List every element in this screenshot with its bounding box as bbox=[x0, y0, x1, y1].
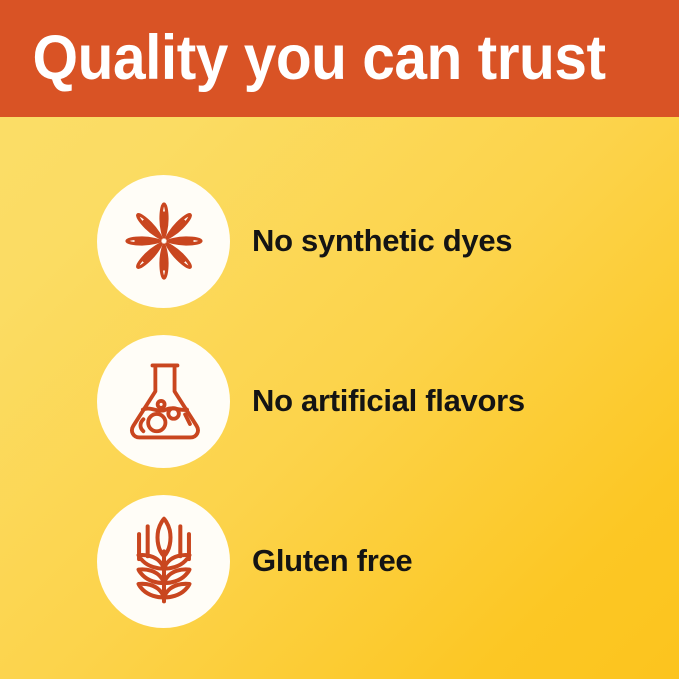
feature-item-no-artificial-flavors: No artificial flavors bbox=[0, 321, 679, 481]
feature-label-3: Gluten free bbox=[252, 544, 412, 578]
quality-poster: Quality you can trust bbox=[0, 0, 679, 679]
page-title: Quality you can trust bbox=[0, 27, 606, 90]
feature-list: No synthetic dyes No arti bbox=[0, 117, 679, 679]
feature-item-gluten-free: Gluten free bbox=[0, 481, 679, 641]
feature-label-2: No artificial flavors bbox=[252, 384, 525, 418]
wheat-icon bbox=[116, 513, 212, 609]
banner-header: Quality you can trust bbox=[0, 0, 679, 117]
icon-badge-3 bbox=[97, 495, 230, 628]
icon-badge-2 bbox=[97, 335, 230, 468]
flask-icon bbox=[116, 353, 212, 449]
flower-petals-icon bbox=[114, 191, 214, 291]
feature-item-no-synthetic-dyes: No synthetic dyes bbox=[0, 161, 679, 321]
feature-label-1: No synthetic dyes bbox=[252, 224, 512, 258]
icon-badge-1 bbox=[97, 175, 230, 308]
